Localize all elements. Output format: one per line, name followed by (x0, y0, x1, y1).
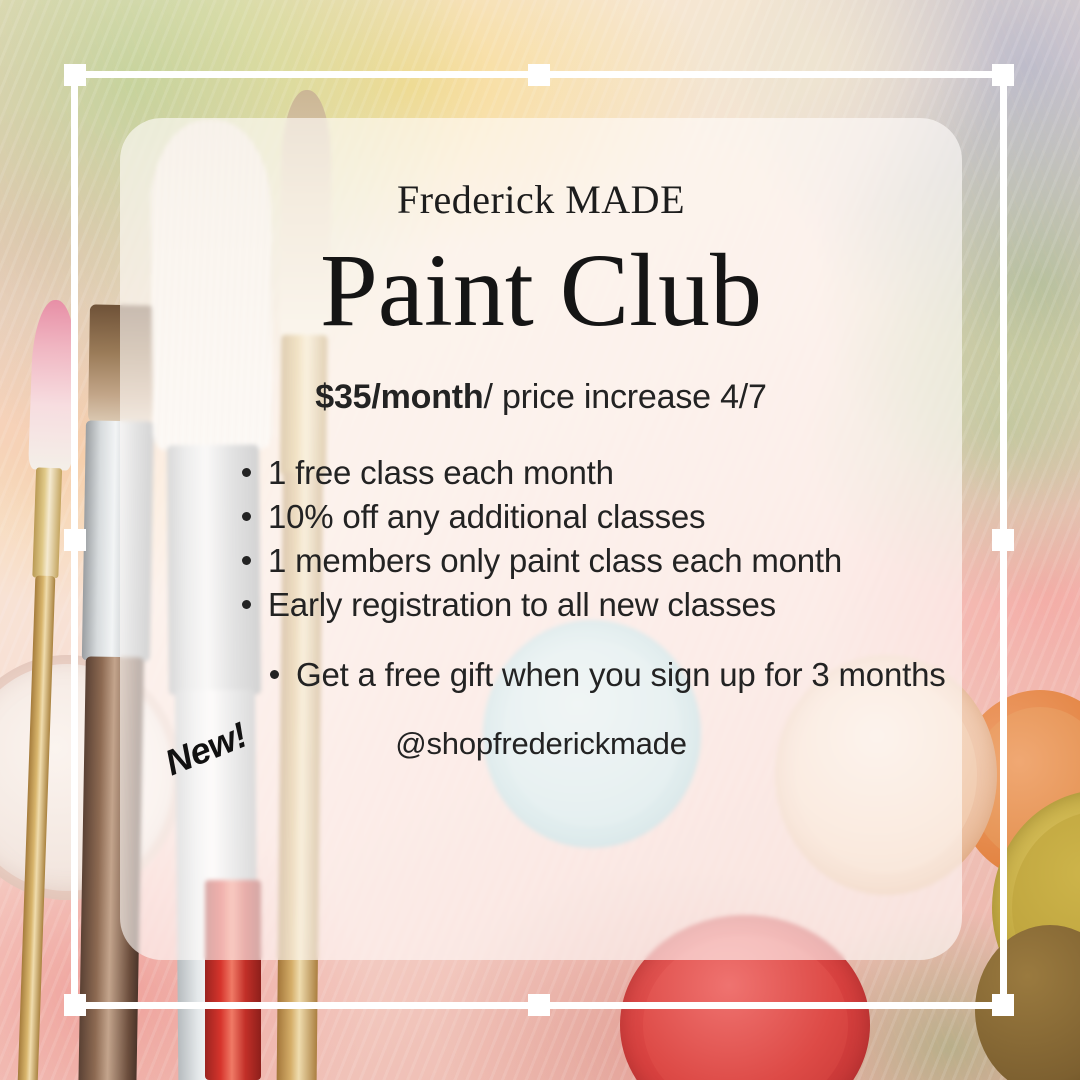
poster-canvas: Frederick MADE Paint Club $35/month/ pri… (0, 0, 1080, 1080)
brush-handle (18, 575, 56, 1080)
brand-name: Frederick MADE (120, 180, 962, 220)
price-amount: $35/month (315, 378, 483, 416)
frame-corner-mark-top-right (992, 64, 1014, 86)
list-item-new: Get a free gift when you sign up for 3 m… (238, 653, 962, 697)
benefits-list: 1 free class each month 10% off any addi… (120, 451, 962, 696)
frame-mark-bottom-center (528, 994, 550, 1016)
list-item: 1 members only paint class each month (238, 539, 962, 583)
list-item: 1 free class each month (238, 451, 962, 495)
list-item: 10% off any additional classes (238, 495, 962, 539)
brush-ferrule (32, 467, 62, 578)
poster-content: Frederick MADE Paint Club $35/month/ pri… (120, 118, 962, 960)
page-title: Paint Club (120, 238, 962, 344)
frame-mark-top-center (528, 64, 550, 86)
frame-corner-mark-top-left (64, 64, 86, 86)
frame-mark-right-middle (992, 529, 1014, 551)
list-item: Early registration to all new classes (238, 583, 962, 627)
price-line: $35/month/ price increase 4/7 (120, 378, 962, 417)
price-note: / price increase 4/7 (483, 378, 766, 416)
frame-corner-mark-bottom-left (64, 994, 86, 1016)
frame-corner-mark-bottom-right (992, 994, 1014, 1016)
frame-mark-left-middle (64, 529, 86, 551)
